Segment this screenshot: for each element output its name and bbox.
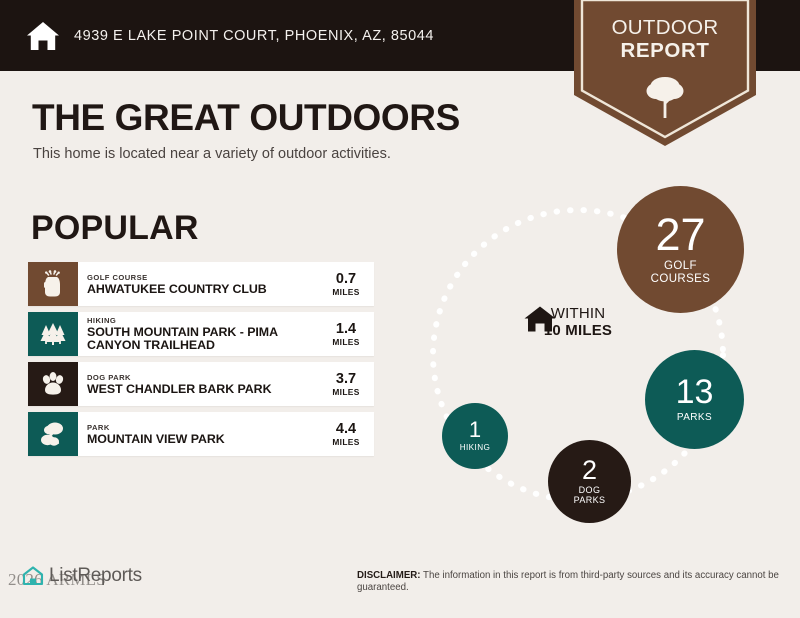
- poi-body: HIKING SOUTH MOUNTAIN PARK - PIMA CANYON…: [78, 312, 374, 356]
- poi-distance-value: 1.4: [325, 322, 367, 337]
- poi-name: SOUTH MOUNTAIN PARK - PIMA CANYON TRAILH…: [87, 326, 325, 352]
- park-tree-icon: [39, 421, 67, 447]
- poi-distance: 0.7 MILES: [325, 272, 370, 297]
- bubble-parks[interactable]: 13 PARKS: [645, 350, 744, 449]
- poi-names: HIKING SOUTH MOUNTAIN PARK - PIMA CANYON…: [87, 316, 325, 352]
- bubble-value: 27: [655, 214, 705, 257]
- poi-names: PARK MOUNTAIN VIEW PARK: [87, 423, 325, 446]
- chart-center-label: WITHIN 10 MILES: [523, 305, 633, 339]
- disclaimer-text: The information in this report is from t…: [357, 570, 779, 593]
- badge-title-line1: OUTDOOR: [574, 16, 756, 39]
- poi-distance: 1.4 MILES: [325, 322, 370, 347]
- disclaimer: DISCLAIMER: The information in this repo…: [357, 570, 782, 594]
- poi-category: DOG PARK: [87, 373, 325, 383]
- disclaimer-label: DISCLAIMER:: [357, 570, 421, 581]
- bubble-golf-courses[interactable]: 27 GOLF COURSES: [617, 186, 744, 313]
- poi-distance-value: 4.4: [325, 422, 367, 437]
- paw-print-icon: [40, 371, 66, 397]
- bubble-hiking[interactable]: 1 HIKING: [442, 403, 508, 469]
- badge-title: OUTDOOR REPORT: [574, 16, 756, 62]
- poi-category: GOLF COURSE: [87, 273, 325, 283]
- poi-name: WEST CHANDLER BARK PARK: [87, 383, 325, 396]
- bubble-label-line1: DOG: [574, 485, 606, 495]
- amenities-bubble-chart: 27 GOLF COURSES 13 PARKS 2 DOG PARKS 1 H…: [400, 165, 800, 535]
- golf-bag-icon: [40, 270, 66, 298]
- popular-list: GOLF COURSE AHWATUKEE COUNTRY CLUB 0.7 M…: [28, 262, 374, 462]
- home-icon: [26, 21, 60, 51]
- poi-icon-tile: [28, 362, 78, 406]
- header-content: 4939 E LAKE POINT COURT, PHOENIX, AZ, 85…: [26, 0, 434, 71]
- poi-icon-tile: [28, 262, 78, 306]
- bubble-label-line2: PARKS: [574, 495, 606, 505]
- page-title: THE GREAT OUTDOORS: [32, 97, 460, 139]
- poi-icon-tile: [28, 312, 78, 356]
- list-item[interactable]: PARK MOUNTAIN VIEW PARK 4.4 MILES: [28, 412, 374, 456]
- poi-body: DOG PARK WEST CHANDLER BARK PARK 3.7 MIL…: [78, 362, 374, 406]
- page-subtitle: This home is located near a variety of o…: [33, 146, 391, 162]
- poi-name: AHWATUKEE COUNTRY CLUB: [87, 283, 325, 296]
- bubble-label: GOLF COURSES: [651, 260, 711, 285]
- poi-name: MOUNTAIN VIEW PARK: [87, 433, 325, 446]
- poi-distance-unit: MILES: [325, 337, 367, 347]
- badge-title-line2: REPORT: [574, 39, 756, 62]
- bubble-label: HIKING: [460, 443, 491, 452]
- pine-trees-icon: [39, 322, 67, 346]
- outdoor-report-badge: OUTDOOR REPORT: [574, 0, 756, 146]
- logo-text: ListReports: [49, 565, 142, 587]
- poi-body: GOLF COURSE AHWATUKEE COUNTRY CLUB 0.7 M…: [78, 262, 374, 306]
- poi-distance-unit: MILES: [325, 437, 367, 447]
- bubble-label: DOG PARKS: [574, 485, 606, 505]
- property-address: 4939 E LAKE POINT COURT, PHOENIX, AZ, 85…: [74, 28, 434, 44]
- bubble-value: 13: [676, 376, 714, 408]
- poi-names: DOG PARK WEST CHANDLER BARK PARK: [87, 373, 325, 396]
- poi-icon-tile: [28, 412, 78, 456]
- bubble-dog-parks[interactable]: 2 DOG PARKS: [548, 440, 631, 523]
- house-logo-icon: [20, 563, 46, 589]
- poi-distance: 3.7 MILES: [325, 372, 370, 397]
- poi-distance-unit: MILES: [325, 387, 367, 397]
- list-item[interactable]: HIKING SOUTH MOUNTAIN PARK - PIMA CANYON…: [28, 312, 374, 356]
- list-item[interactable]: GOLF COURSE AHWATUKEE COUNTRY CLUB 0.7 M…: [28, 262, 374, 306]
- poi-category: PARK: [87, 423, 325, 433]
- poi-distance: 4.4 MILES: [325, 422, 370, 447]
- bubble-value: 2: [582, 458, 597, 484]
- bubble-value: 1: [469, 420, 481, 441]
- poi-body: PARK MOUNTAIN VIEW PARK 4.4 MILES: [78, 412, 374, 456]
- poi-distance-value: 0.7: [325, 272, 367, 287]
- bubble-label: PARKS: [677, 412, 712, 423]
- listreports-logo: ListReports: [20, 563, 142, 589]
- bubble-label-line1: GOLF: [651, 260, 711, 273]
- popular-section-heading: POPULAR: [31, 209, 199, 248]
- list-item[interactable]: DOG PARK WEST CHANDLER BARK PARK 3.7 MIL…: [28, 362, 374, 406]
- poi-names: GOLF COURSE AHWATUKEE COUNTRY CLUB: [87, 273, 325, 296]
- poi-distance-unit: MILES: [325, 287, 367, 297]
- bubble-label-line2: COURSES: [651, 273, 711, 286]
- poi-distance-value: 3.7: [325, 372, 367, 387]
